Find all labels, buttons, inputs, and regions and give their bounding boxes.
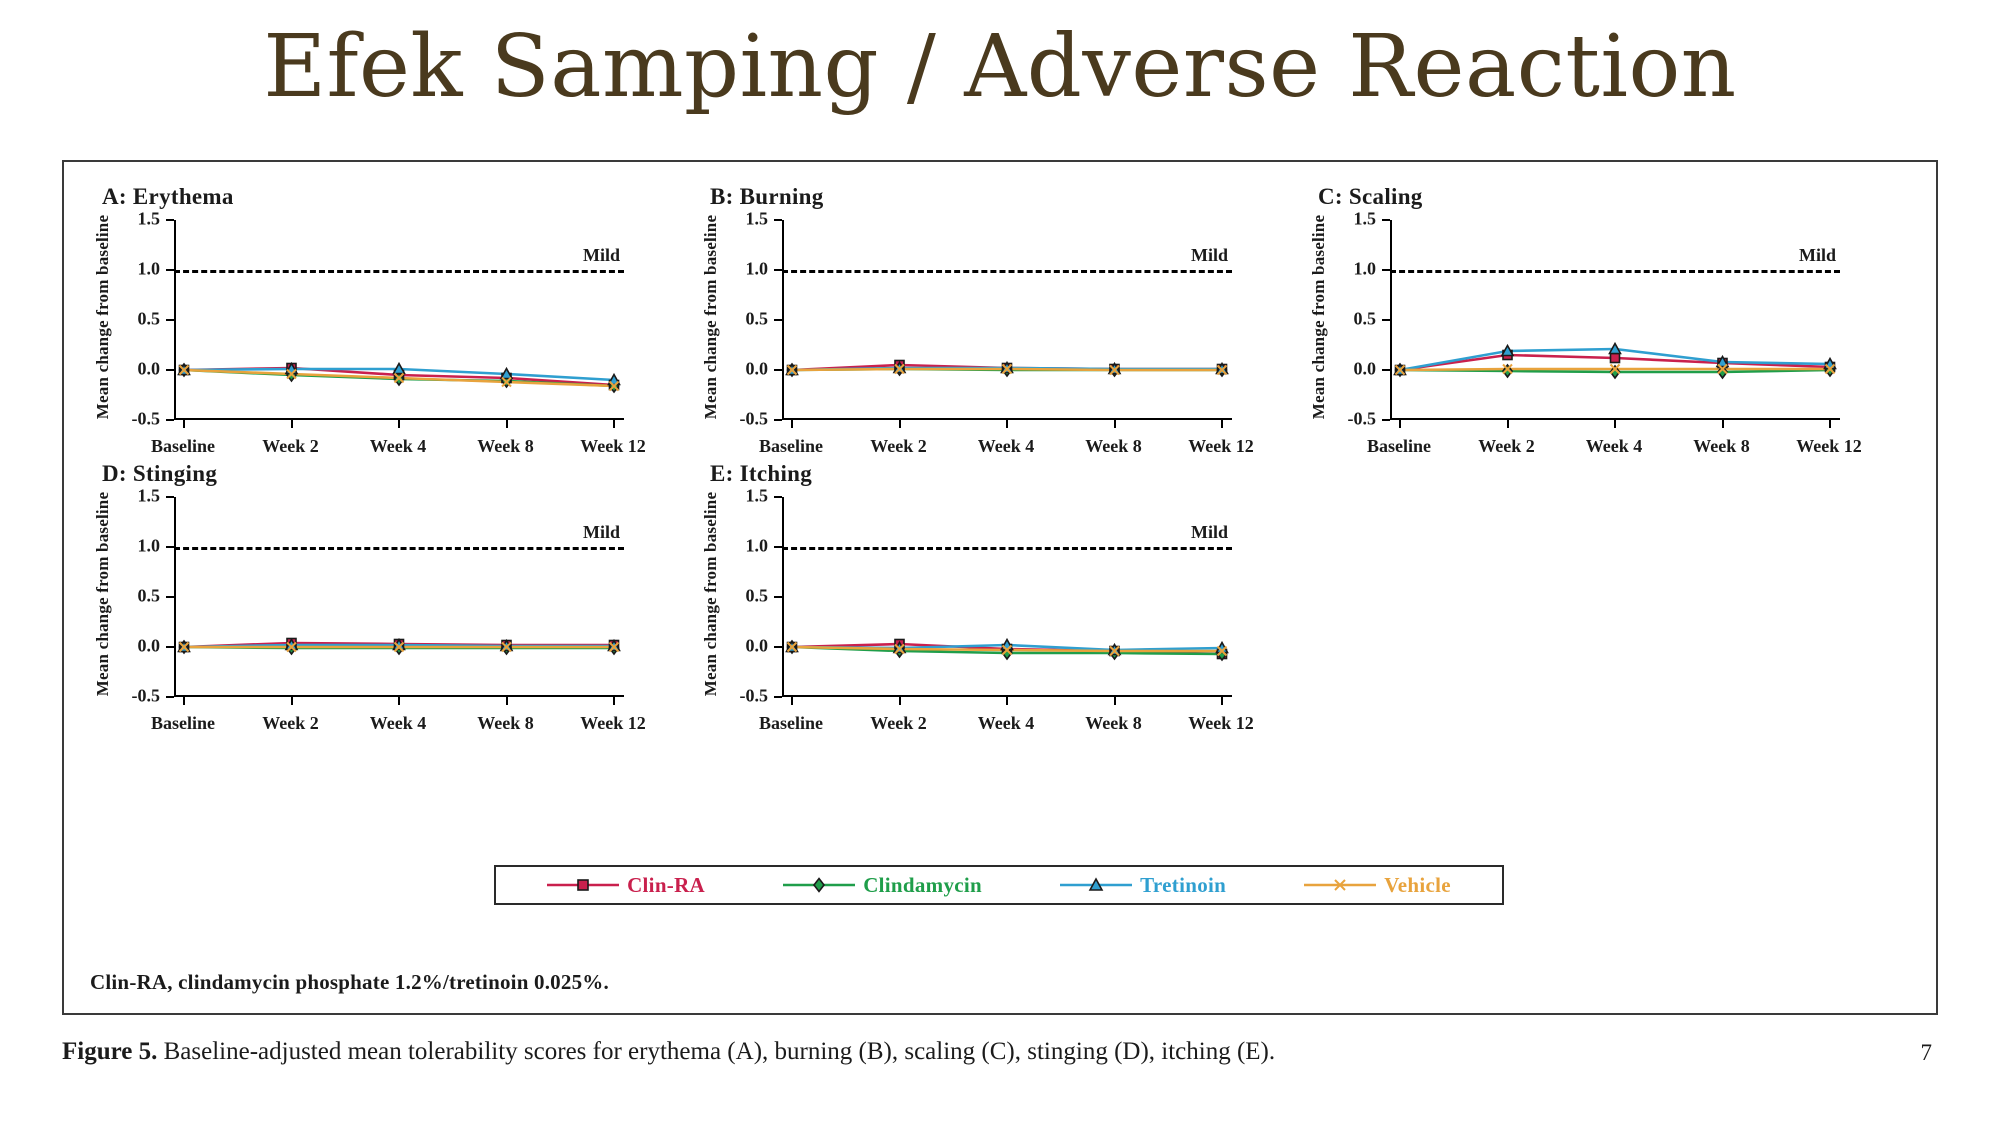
y-tick: 1.0 bbox=[774, 269, 782, 271]
x-tick-label: Week 2 bbox=[262, 436, 319, 457]
y-tick-label: 0.5 bbox=[746, 309, 769, 330]
panel-empty-slot bbox=[1290, 457, 1898, 706]
x-tick-label: Week 2 bbox=[870, 436, 927, 457]
panel-c-plot-area: Mean change from baseline 1.5 1.0 0.5 0.… bbox=[1312, 214, 1898, 429]
x-tick-label: Baseline bbox=[759, 436, 823, 457]
y-tick: 0.0 bbox=[166, 646, 174, 648]
y-tick: -0.5 bbox=[774, 696, 782, 698]
y-tick: 0.5 bbox=[774, 596, 782, 598]
x-tick: Week 8 bbox=[1114, 420, 1116, 428]
panel-a-plot: 1.5 1.0 0.5 0.0 -0.5 Baseline bbox=[174, 220, 624, 420]
y-tick: 1.0 bbox=[166, 546, 174, 548]
legend-label: Clindamycin bbox=[863, 873, 982, 898]
y-tick-label: -0.5 bbox=[132, 686, 161, 707]
y-tick-label: 1.5 bbox=[746, 486, 769, 507]
y-tick-label: 0.0 bbox=[138, 636, 161, 657]
x-tick: Week 12 bbox=[1221, 697, 1223, 705]
y-tick: 0.5 bbox=[774, 319, 782, 321]
panel-a: A: Erythema Mean change from baseline 1.… bbox=[74, 180, 682, 429]
cross-marker bbox=[1304, 875, 1376, 895]
x-tick-label: Baseline bbox=[151, 436, 215, 457]
x-tick: Week 4 bbox=[1006, 697, 1008, 705]
panel-e-plot: 1.5 1.0 0.5 0.0 -0.5 Baseline bbox=[782, 497, 1232, 697]
y-tick: 0.5 bbox=[166, 596, 174, 598]
panel-grid: A: Erythema Mean change from baseline 1.… bbox=[64, 162, 1936, 706]
y-tick-label: 1.5 bbox=[138, 486, 161, 507]
legend-item-vehicle[interactable]: Vehicle bbox=[1304, 873, 1451, 898]
y-tick: 0.0 bbox=[774, 646, 782, 648]
panel-e-y-axis-label: Mean change from baseline bbox=[700, 491, 722, 696]
x-tick-label: Baseline bbox=[151, 713, 215, 734]
legend-item-clindamycin[interactable]: Clindamycin bbox=[783, 873, 982, 898]
figure-caption-text: Baseline-adjusted mean tolerability scor… bbox=[164, 1038, 1276, 1065]
y-tick-label: 0.5 bbox=[746, 586, 769, 607]
legend-item-clin-ra[interactable]: Clin-RA bbox=[547, 873, 705, 898]
y-tick-label: 1.0 bbox=[1354, 259, 1377, 280]
x-tick-label: Week 4 bbox=[370, 436, 427, 457]
panel-d-series bbox=[174, 497, 624, 697]
x-tick: Week 8 bbox=[1114, 697, 1116, 705]
panel-a-title: A: Erythema bbox=[102, 184, 682, 210]
panel-c-series bbox=[1390, 220, 1840, 420]
triangle-marker bbox=[1060, 875, 1132, 895]
panel-a-y-axis-label: Mean change from baseline bbox=[92, 214, 114, 419]
x-tick: Week 4 bbox=[398, 420, 400, 428]
y-tick-label: 0.5 bbox=[1354, 309, 1377, 330]
panel-d-plot-area: Mean change from baseline 1.5 1.0 0.5 0.… bbox=[96, 491, 682, 706]
panel-row-bottom: D: Stinging Mean change from baseline 1.… bbox=[74, 457, 1926, 706]
x-tick: Baseline bbox=[1399, 420, 1401, 428]
x-tick-label: Week 12 bbox=[580, 713, 646, 734]
panel-a-series bbox=[174, 220, 624, 420]
chart-legend: Clin-RA Clindamycin Tretinoin Vehicle bbox=[494, 865, 1504, 905]
x-tick-label: Week 12 bbox=[1796, 436, 1862, 457]
x-tick: Week 4 bbox=[1006, 420, 1008, 428]
x-tick-label: Week 12 bbox=[1188, 713, 1254, 734]
x-tick: Week 12 bbox=[613, 697, 615, 705]
panel-b-title: B: Burning bbox=[710, 184, 1290, 210]
legend-label: Clin-RA bbox=[627, 873, 705, 898]
panel-c: C: Scaling Mean change from baseline 1.5… bbox=[1290, 180, 1898, 429]
x-tick: Baseline bbox=[183, 697, 185, 705]
y-tick-label: -0.5 bbox=[1348, 409, 1377, 430]
x-tick-label: Baseline bbox=[1367, 436, 1431, 457]
figure-caption: Figure 5. Baseline-adjusted mean tolerab… bbox=[62, 1038, 1275, 1066]
y-tick: 0.0 bbox=[1382, 369, 1390, 371]
y-tick-label: 1.0 bbox=[746, 536, 769, 557]
y-tick: -0.5 bbox=[166, 696, 174, 698]
x-tick: Week 8 bbox=[506, 420, 508, 428]
panel-row-top: A: Erythema Mean change from baseline 1.… bbox=[74, 180, 1926, 429]
x-tick-label: Week 12 bbox=[1188, 436, 1254, 457]
x-tick-label: Week 8 bbox=[1085, 713, 1142, 734]
x-tick: Week 12 bbox=[1221, 420, 1223, 428]
y-tick-label: 0.0 bbox=[746, 359, 769, 380]
diamond-marker bbox=[783, 875, 855, 895]
x-tick: Baseline bbox=[791, 697, 793, 705]
panel-e-plot-area: Mean change from baseline 1.5 1.0 0.5 0.… bbox=[704, 491, 1290, 706]
x-tick: Baseline bbox=[791, 420, 793, 428]
y-tick-label: 1.0 bbox=[138, 536, 161, 557]
x-tick-label: Week 2 bbox=[1478, 436, 1535, 457]
x-tick: Week 2 bbox=[899, 697, 901, 705]
y-tick: 1.0 bbox=[774, 546, 782, 548]
y-tick: 0.0 bbox=[774, 369, 782, 371]
y-tick-label: -0.5 bbox=[132, 409, 161, 430]
x-tick: Week 2 bbox=[291, 697, 293, 705]
panel-c-plot: 1.5 1.0 0.5 0.0 -0.5 Baseline bbox=[1390, 220, 1840, 420]
x-tick: Week 2 bbox=[291, 420, 293, 428]
x-tick: Week 2 bbox=[1507, 420, 1509, 428]
y-tick-label: -0.5 bbox=[740, 409, 769, 430]
y-tick: 1.5 bbox=[166, 496, 174, 498]
panel-d-y-axis-label: Mean change from baseline bbox=[92, 491, 114, 696]
panel-b-plot-area: Mean change from baseline 1.5 1.0 0.5 0.… bbox=[704, 214, 1290, 429]
figure-caption-label: Figure 5. bbox=[62, 1038, 157, 1065]
panel-c-y-axis-label: Mean change from baseline bbox=[1308, 214, 1330, 419]
x-tick-label: Week 8 bbox=[1085, 436, 1142, 457]
x-tick: Week 8 bbox=[1722, 420, 1724, 428]
square-marker bbox=[547, 875, 619, 895]
y-tick: 1.5 bbox=[1382, 219, 1390, 221]
x-tick-label: Week 4 bbox=[370, 713, 427, 734]
x-tick: Week 2 bbox=[899, 420, 901, 428]
figure-footnote: Clin-RA, clindamycin phosphate 1.2%/tret… bbox=[90, 970, 609, 995]
x-tick: Week 12 bbox=[613, 420, 615, 428]
y-tick-label: 0.0 bbox=[138, 359, 161, 380]
y-tick: 0.0 bbox=[166, 369, 174, 371]
x-tick-label: Week 12 bbox=[580, 436, 646, 457]
panel-d-title: D: Stinging bbox=[102, 461, 682, 487]
panel-e-title: E: Itching bbox=[710, 461, 1290, 487]
panel-a-plot-area: Mean change from baseline 1.5 1.0 0.5 0.… bbox=[96, 214, 682, 429]
y-tick: -0.5 bbox=[774, 419, 782, 421]
x-tick-label: Baseline bbox=[759, 713, 823, 734]
y-tick-label: -0.5 bbox=[740, 686, 769, 707]
x-tick-label: Week 2 bbox=[262, 713, 319, 734]
legend-label: Tretinoin bbox=[1140, 873, 1226, 898]
x-tick-label: Week 4 bbox=[978, 713, 1035, 734]
y-tick: 1.5 bbox=[774, 496, 782, 498]
y-tick-label: 1.5 bbox=[138, 209, 161, 230]
y-tick-label: 0.0 bbox=[1354, 359, 1377, 380]
y-tick: 1.5 bbox=[166, 219, 174, 221]
y-tick: -0.5 bbox=[166, 419, 174, 421]
legend-label: Vehicle bbox=[1384, 873, 1451, 898]
panel-e: E: Itching Mean change from baseline 1.5… bbox=[682, 457, 1290, 706]
panel-c-title: C: Scaling bbox=[1318, 184, 1898, 210]
panel-b-y-axis-label: Mean change from baseline bbox=[700, 214, 722, 419]
y-tick-label: 0.0 bbox=[746, 636, 769, 657]
panel-d: D: Stinging Mean change from baseline 1.… bbox=[74, 457, 682, 706]
x-tick-label: Week 2 bbox=[870, 713, 927, 734]
figure-frame: A: Erythema Mean change from baseline 1.… bbox=[62, 160, 1938, 1015]
y-tick: 0.5 bbox=[1382, 319, 1390, 321]
y-tick-label: 0.5 bbox=[138, 309, 161, 330]
x-tick-label: Week 8 bbox=[477, 713, 534, 734]
y-tick: 1.5 bbox=[774, 219, 782, 221]
x-tick-label: Week 8 bbox=[477, 436, 534, 457]
panel-d-plot: 1.5 1.0 0.5 0.0 -0.5 Baseline bbox=[174, 497, 624, 697]
x-tick: Week 4 bbox=[1614, 420, 1616, 428]
page-title: Efek Samping / Adverse Reaction bbox=[0, 0, 2000, 112]
y-tick: -0.5 bbox=[1382, 419, 1390, 421]
y-tick-label: 0.5 bbox=[138, 586, 161, 607]
x-tick-label: Week 4 bbox=[978, 436, 1035, 457]
y-tick-label: 1.0 bbox=[138, 259, 161, 280]
panel-b-plot: 1.5 1.0 0.5 0.0 -0.5 Baseline bbox=[782, 220, 1232, 420]
y-tick-label: 1.5 bbox=[746, 209, 769, 230]
y-tick-label: 1.5 bbox=[1354, 209, 1377, 230]
y-tick: 1.0 bbox=[1382, 269, 1390, 271]
panel-e-series bbox=[782, 497, 1232, 697]
legend-item-tretinoin[interactable]: Tretinoin bbox=[1060, 873, 1226, 898]
x-tick: Week 12 bbox=[1829, 420, 1831, 428]
page-number: 7 bbox=[1921, 1040, 1933, 1066]
x-tick: Week 4 bbox=[398, 697, 400, 705]
panel-b-series bbox=[782, 220, 1232, 420]
x-tick-label: Week 4 bbox=[1586, 436, 1643, 457]
y-tick: 0.5 bbox=[166, 319, 174, 321]
y-tick-label: 1.0 bbox=[746, 259, 769, 280]
x-tick-label: Week 8 bbox=[1693, 436, 1750, 457]
y-tick: 1.0 bbox=[166, 269, 174, 271]
panel-b: B: Burning Mean change from baseline 1.5… bbox=[682, 180, 1290, 429]
x-tick: Week 8 bbox=[506, 697, 508, 705]
x-tick: Baseline bbox=[183, 420, 185, 428]
